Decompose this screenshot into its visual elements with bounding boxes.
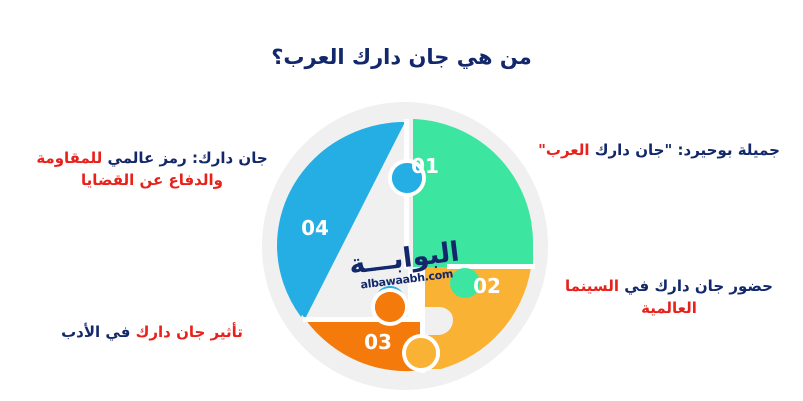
piece-number-04: 04 xyxy=(301,216,329,240)
callout-03-red-text: تأثير جان دارك xyxy=(136,323,243,341)
gap-04-03-left xyxy=(303,317,389,322)
knob-03-top xyxy=(375,292,405,322)
piece-number-01: 01 xyxy=(411,154,439,178)
callout-03: تأثير جان دارك في الأدب xyxy=(36,322,268,344)
callout-04-navy-text: جان دارك: رمز عالمي xyxy=(108,149,268,167)
gap-04-01-lower xyxy=(404,181,409,269)
callout-02: حضور جان دارك في السينما العالمية xyxy=(548,276,790,320)
callout-03-navy-text: في الأدب xyxy=(61,323,130,341)
gap-01-02 xyxy=(447,264,535,269)
puzzle-svg: 01 02 03 04 xyxy=(261,101,549,391)
center-white-fill xyxy=(408,269,420,317)
piece-number-02: 02 xyxy=(473,274,501,298)
callout-01-red-text: العرب" xyxy=(538,141,589,159)
page-title: من هي جان دارك العرب؟ xyxy=(0,44,803,71)
piece-number-03: 03 xyxy=(364,330,392,354)
callout-01-navy-text: جميلة بوحيرد: "جان دارك xyxy=(595,141,780,159)
knob-02-left xyxy=(406,338,436,368)
callout-01: جميلة بوحيرد: "جان دارك العرب" xyxy=(528,140,790,162)
puzzle-diagram: 01 02 03 04 xyxy=(261,101,549,391)
callout-02-navy-text: حضور جان دارك في xyxy=(624,277,773,295)
infographic-canvas: من هي جان دارك العرب؟ xyxy=(0,0,803,401)
callout-04: جان دارك: رمز عالمي للمقاومة والدفاع عن … xyxy=(28,148,276,192)
